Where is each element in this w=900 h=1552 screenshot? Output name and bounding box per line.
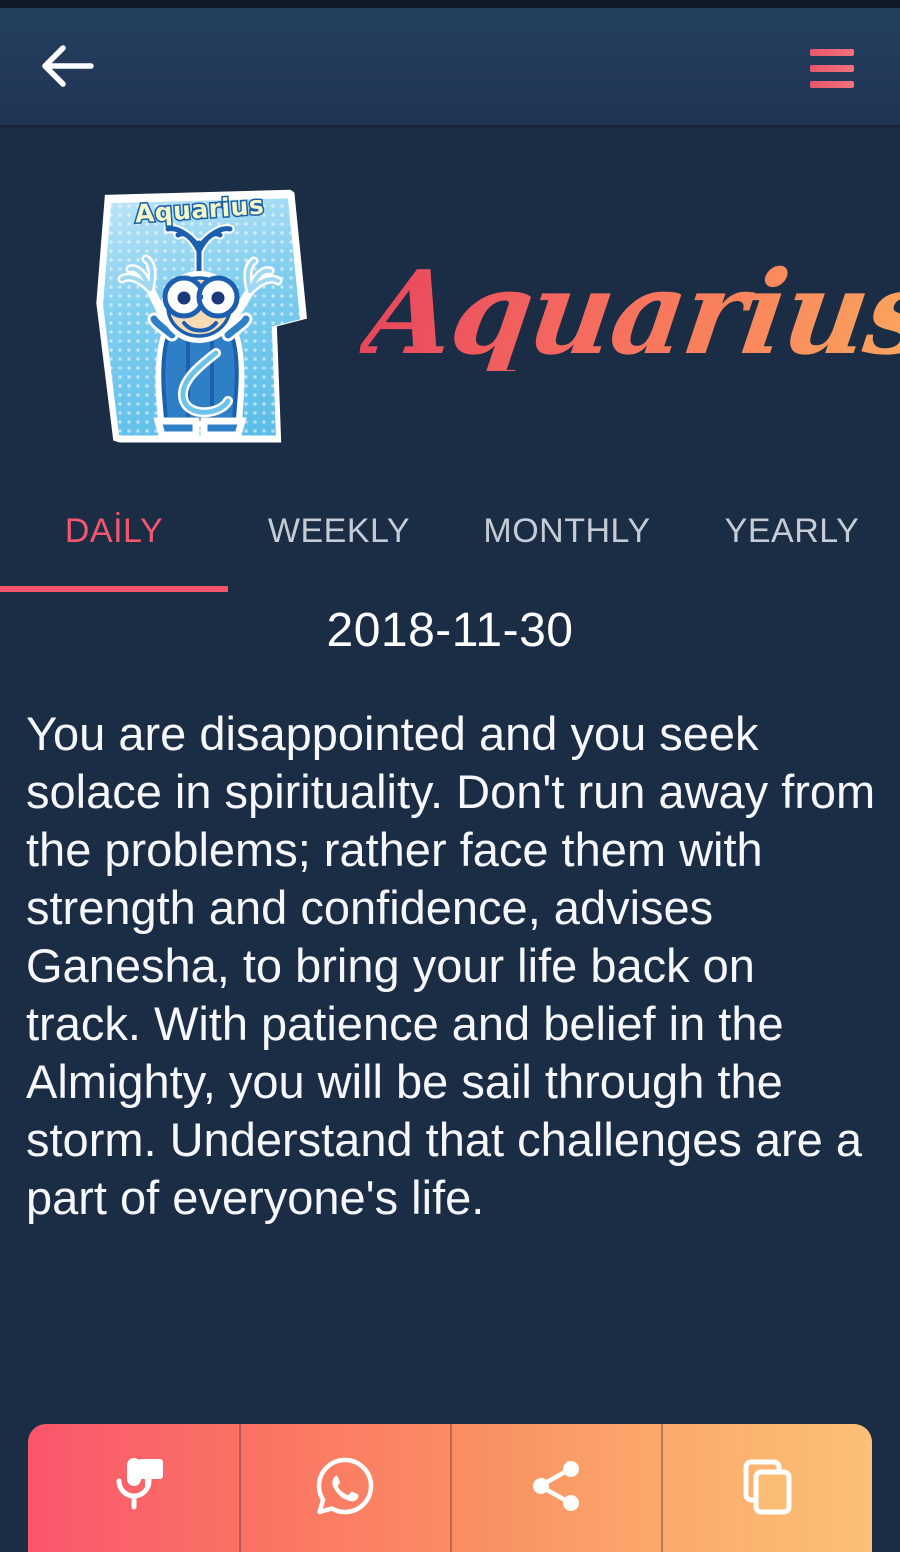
tab-weekly[interactable]: WEEKLY [228,496,450,592]
action-bar [28,1424,872,1552]
app-screen: Aquarius Aquarius DAİLY WEEKLY MONTHLY Y… [0,0,900,1552]
speak-icon [103,1455,165,1522]
arrow-left-icon [41,44,95,93]
share-icon [526,1456,586,1521]
whatsapp-share-button[interactable] [239,1424,450,1552]
share-button[interactable] [450,1424,661,1552]
horoscope-text: You are disappointed and you seek solace… [26,705,882,1227]
hamburger-menu-icon-bar3 [810,81,854,88]
sign-hero: Aquarius Aquarius [0,131,900,496]
tab-monthly[interactable]: MONTHLY [450,496,684,592]
horoscope-date: 2018-11-30 [0,603,900,658]
whatsapp-icon [314,1455,376,1522]
zodiac-artwork: Aquarius [92,185,307,443]
copy-icon [737,1456,797,1521]
app-bar [0,8,900,128]
back-button[interactable] [36,36,100,100]
page-title: Aquarius [357,256,900,371]
tab-daily[interactable]: DAİLY [0,496,228,592]
hamburger-menu-icon-bar2 [810,65,854,72]
status-bar [0,0,900,8]
tab-yearly[interactable]: YEARLY [684,496,900,592]
period-tabs: DAİLY WEEKLY MONTHLY YEARLY [0,496,900,592]
hamburger-menu-icon [810,49,854,56]
hamburger-menu-button[interactable] [800,36,864,100]
copy-button[interactable] [661,1424,872,1552]
speak-button[interactable] [28,1424,239,1552]
